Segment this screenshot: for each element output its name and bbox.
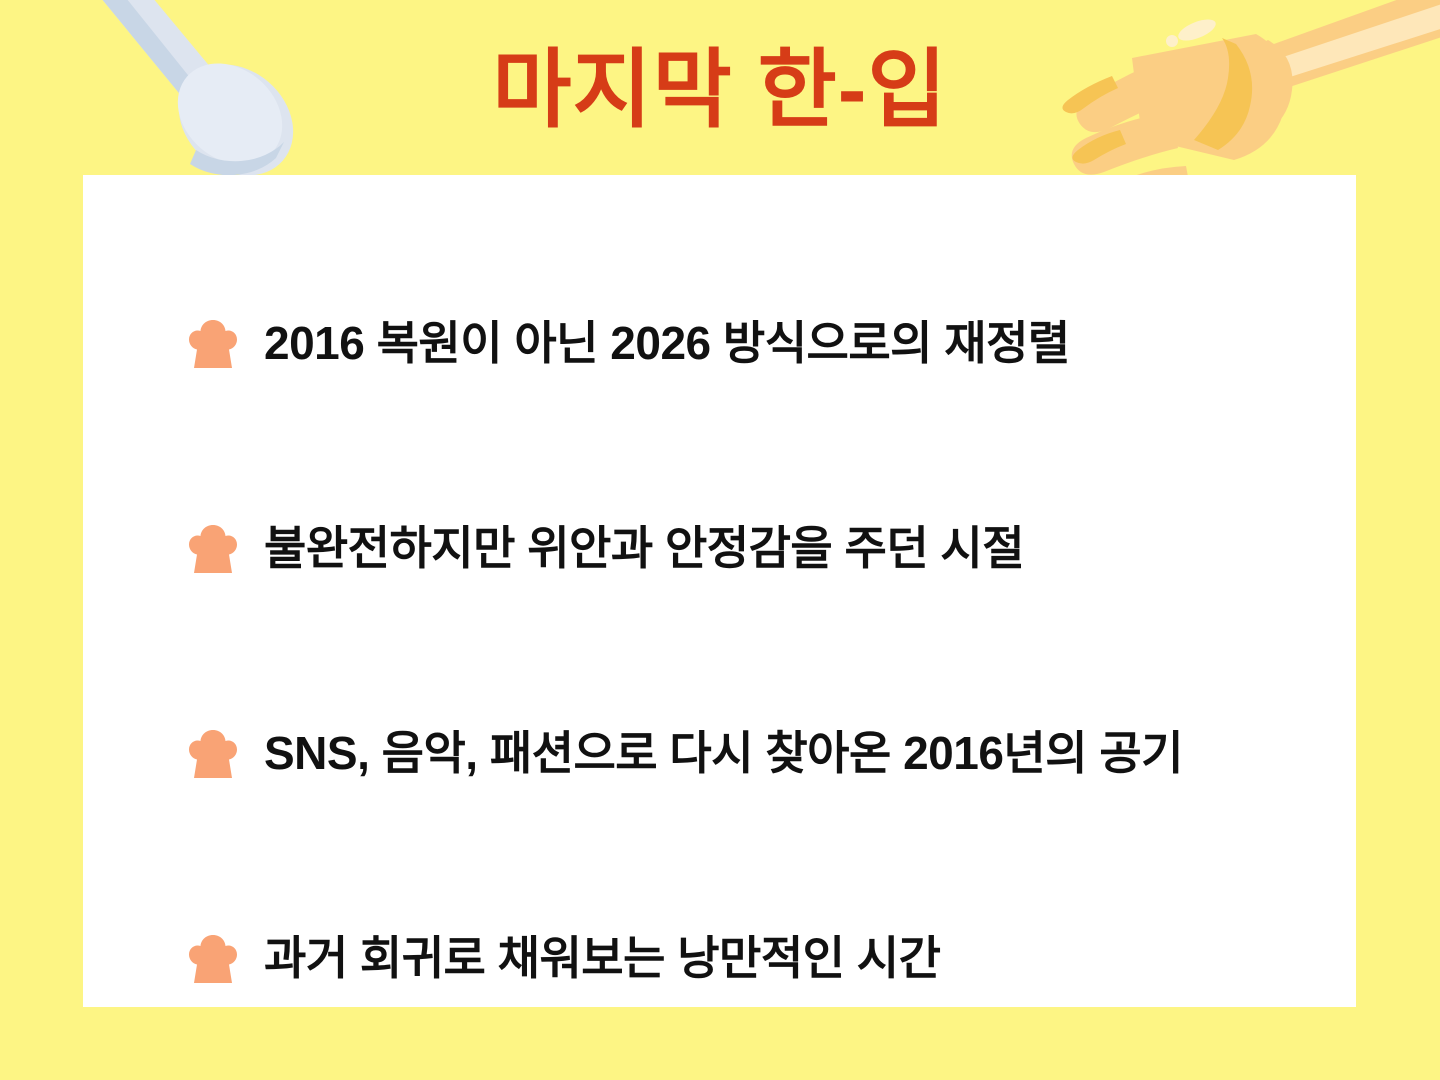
bullet-list: 2016 복원이 아닌 2026 방식으로의 재정렬 불완전하지만 위안과 안정…	[188, 235, 1316, 1061]
chef-hat-icon	[188, 933, 238, 985]
list-item-label: SNS, 음악, 패션으로 다시 찾아온 2016년의 공기	[264, 727, 1183, 780]
list-item-label: 2016 복원이 아닌 2026 방식으로의 재정렬	[264, 317, 1070, 370]
content-card: 2016 복원이 아닌 2026 방식으로의 재정렬 불완전하지만 위안과 안정…	[83, 175, 1356, 1007]
chef-hat-icon	[188, 318, 238, 370]
chef-hat-icon	[188, 728, 238, 780]
title-bar: 마지막 한-입	[0, 0, 1440, 175]
list-item: SNS, 음악, 패션으로 다시 찾아온 2016년의 공기	[188, 651, 1316, 856]
list-item: 불완전하지만 위안과 안정감을 주던 시절	[188, 446, 1316, 651]
list-item-label: 과거 회귀로 채워보는 낭만적인 시간	[264, 932, 940, 985]
list-item: 2016 복원이 아닌 2026 방식으로의 재정렬	[188, 241, 1316, 446]
list-item: 과거 회귀로 채워보는 낭만적인 시간	[188, 856, 1316, 1061]
chef-hat-icon	[188, 523, 238, 575]
page-title: 마지막 한-입	[492, 47, 947, 133]
list-item-label: 불완전하지만 위안과 안정감을 주던 시절	[264, 522, 1024, 575]
